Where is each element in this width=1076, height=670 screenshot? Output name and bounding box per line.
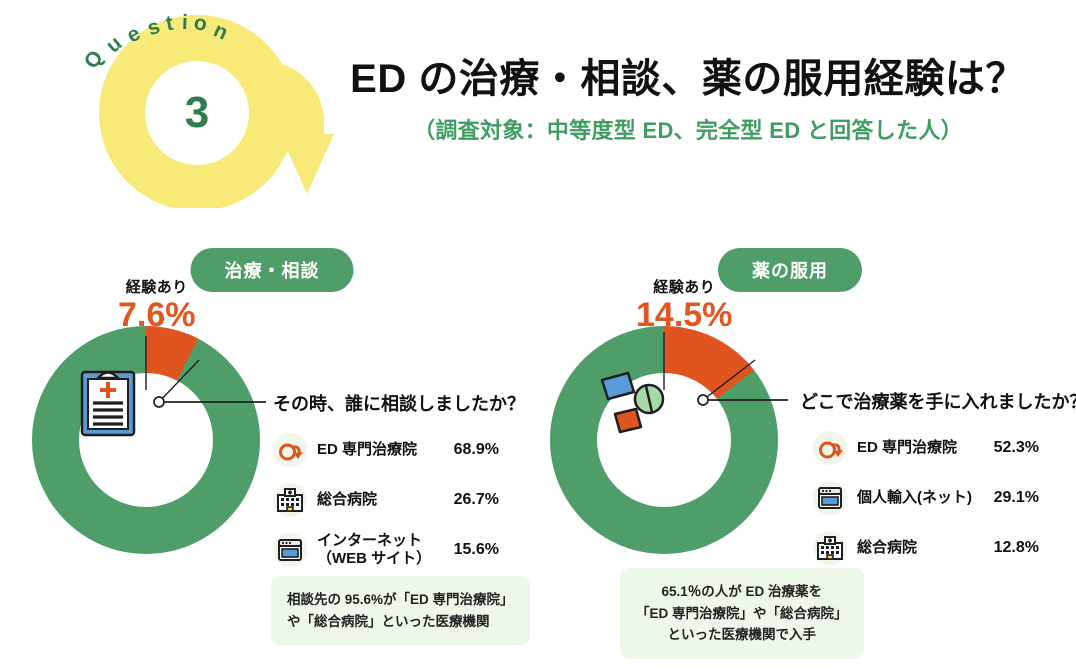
donut-chart-left <box>32 326 260 554</box>
browser-window-icon <box>813 481 847 515</box>
list-item-label: ED 専門治療院 <box>317 441 437 459</box>
experience-label-right: 経験あり 14.5% <box>636 276 732 334</box>
summary-note-right: 65.1％の人が ED 治療薬を 「ED 専門治療院」や「総合病院」 といった医… <box>620 568 864 659</box>
list-heading-left: その時、誰に相談しましたか？ <box>273 390 525 416</box>
list-item-value: 52.3% <box>979 439 1039 457</box>
list-rows-right: ED 専門治療院 52.3% 個人輸入(ネット) 29.1% <box>813 426 1039 576</box>
pills-icon <box>588 362 672 442</box>
list-item-value: 68.9% <box>437 441 499 459</box>
question-number: 3 <box>165 81 229 145</box>
summary-note-line: 65.1％の人が ED 治療薬を <box>636 581 848 603</box>
list-heading-right: どこで治療薬を手に入れましたか？ <box>800 388 1076 414</box>
summary-note-line: 「ED 専門治療院」や「総合病院」 <box>636 603 848 625</box>
list-item-value: 12.8% <box>979 539 1039 557</box>
list-item-label-line1: インターネット <box>317 532 437 550</box>
male-symbol-icon <box>813 431 847 465</box>
list-item-value: 29.1% <box>979 489 1039 507</box>
summary-note-line: 相談先の 95.6%が「ED 専門治療院」 <box>287 589 514 611</box>
panel-pill-label-left: 治療・相談 <box>191 248 354 292</box>
summary-note-line: といった医療機関で入手 <box>636 624 848 646</box>
list-item-value: 15.6% <box>437 541 499 559</box>
panel-medicine-use: 薬の服用 経験あり 14.5% どこで治療薬を手に入れましたか？ <box>540 248 1040 658</box>
experience-caption-right: 経験あり <box>636 276 732 297</box>
list-item-label-line2: （WEB サイト） <box>317 550 437 568</box>
list-item: ED 専門治療院 52.3% <box>813 426 1039 470</box>
summary-note-line: や「総合病院」といった医療機関 <box>287 611 514 633</box>
list-item-value: 26.7% <box>437 491 499 509</box>
list-item-label: 総合病院 <box>857 539 979 557</box>
experience-value-left: 7.6% <box>118 298 196 334</box>
summary-note-left: 相談先の 95.6%が「ED 専門治療院」 や「総合病院」といった医療機関 <box>271 576 530 645</box>
list-item-label: 個人輸入(ネット) <box>857 489 979 507</box>
page-subtitle: （調査対象：中等度型 ED、完全型 ED と回答した人） <box>330 113 1046 145</box>
donut-chart-right <box>550 326 778 554</box>
list-item: 総合病院 12.8% <box>813 526 1039 570</box>
page-title: ED の治療・相談、薬の服用経験は？ <box>330 56 1046 103</box>
panel-treatment-consult: 治療・相談 経験あり 7.6% その時、誰に相談しましたか？ <box>22 248 522 658</box>
question-badge: Q u e s t i o n 3 <box>58 8 338 208</box>
browser-window-icon <box>273 533 307 567</box>
list-item-label: インターネット （WEB サイト） <box>317 532 437 567</box>
list-item: 総合病院 26.7% <box>273 478 499 522</box>
medical-clipboard-icon <box>79 366 137 438</box>
hospital-icon <box>813 531 847 565</box>
header: ED の治療・相談、薬の服用経験は？ （調査対象：中等度型 ED、完全型 ED … <box>330 56 1046 145</box>
infographic-canvas: Q u e s t i o n 3 ED の治療・相談、薬の服用経験は？ （調査… <box>0 0 1076 670</box>
list-item-label: ED 専門治療院 <box>857 439 979 457</box>
panel-pill-label-right: 薬の服用 <box>718 248 862 292</box>
list-item: 個人輸入(ネット) 29.1% <box>813 476 1039 520</box>
list-rows-left: ED 専門治療院 68.9% <box>273 428 499 578</box>
experience-value-right: 14.5% <box>636 298 732 334</box>
male-symbol-icon <box>273 433 307 467</box>
experience-caption-left: 経験あり <box>118 276 196 297</box>
list-item: インターネット （WEB サイト） 15.6% <box>273 528 499 572</box>
list-item-label: 総合病院 <box>317 491 437 509</box>
experience-label-left: 経験あり 7.6% <box>118 276 196 334</box>
hospital-icon <box>273 483 307 517</box>
list-item: ED 専門治療院 68.9% <box>273 428 499 472</box>
